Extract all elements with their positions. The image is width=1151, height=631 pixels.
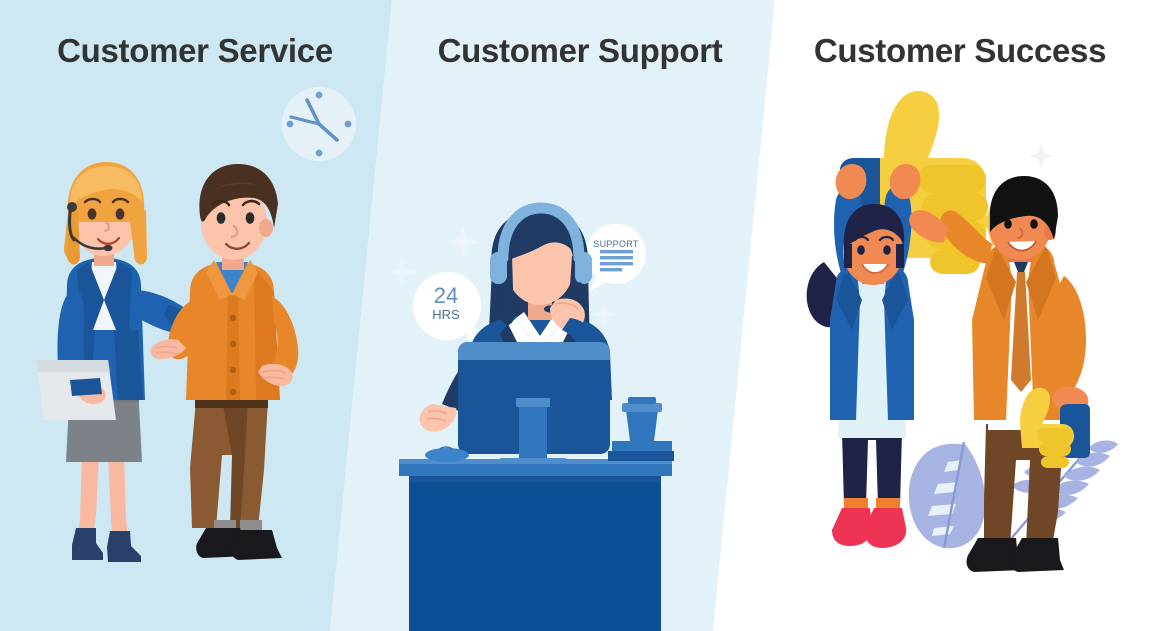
- infographic-canvas: 24 HRS SUPPORT Customer Service Customer…: [0, 0, 1151, 631]
- headings-layer: Customer Service Customer Support Custom…: [0, 0, 1151, 631]
- panel-1-heading: Customer Service: [0, 32, 390, 70]
- panel-3-heading: Customer Success: [765, 32, 1151, 70]
- panel-2-heading: Customer Support: [385, 32, 775, 70]
